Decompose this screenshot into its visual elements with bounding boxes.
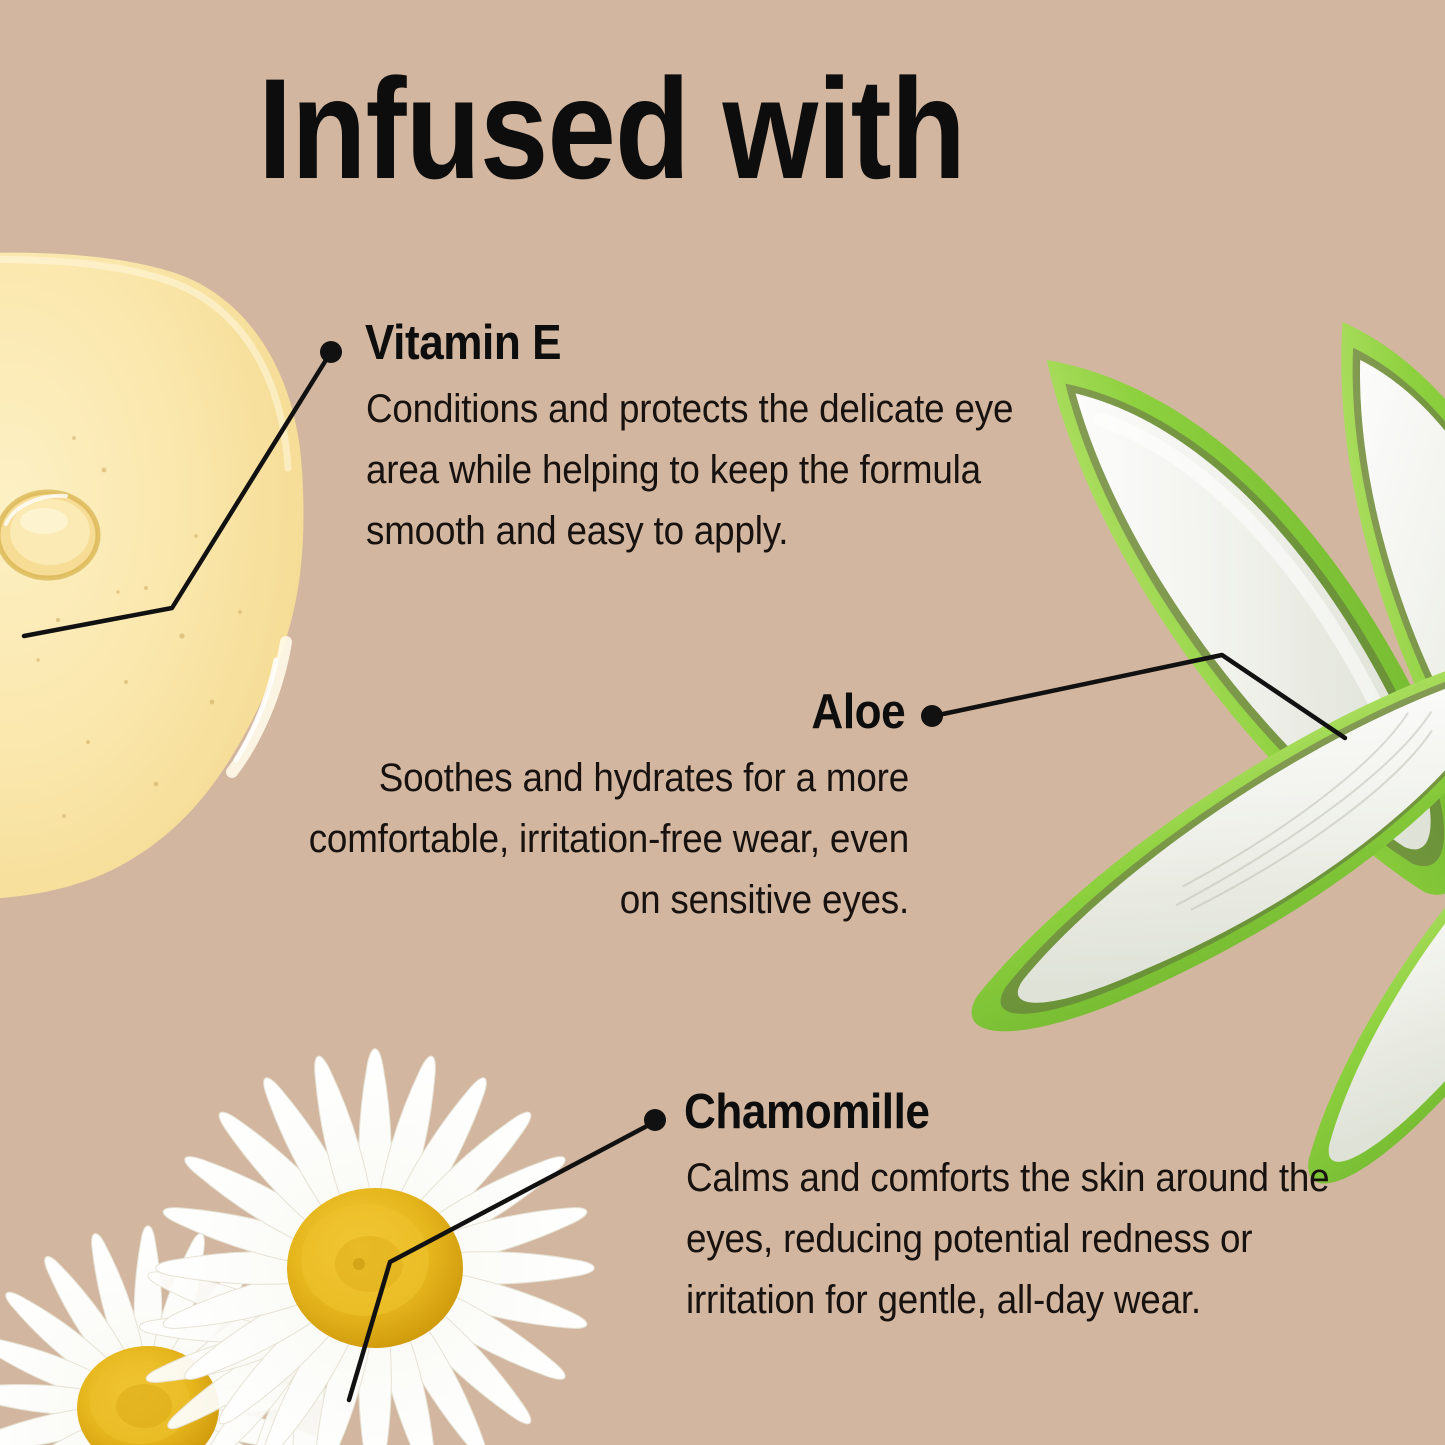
chamomile-flower-primary [156,1049,595,1445]
ingredient-title-aloe: Aloe [811,688,905,737]
oil-droplet [0,492,98,578]
ingredient-title-vitamin-e: Vitamin E [365,319,561,368]
chamomile-flower-tertiary [139,1262,331,1445]
chamomille-leader-line [349,1109,666,1400]
page-title: Infused with [258,58,965,201]
chamomile-flower-secondary [0,1226,331,1445]
ingredient-body-chamomille: Calms and comforts the skin around the e… [686,1148,1330,1330]
ingredient-infographic: Infused with Vitamin E Conditions and pr… [0,0,1445,1445]
ingredient-title-chamomille: Chamomille [684,1088,929,1137]
ingredient-body-vitamin-e: Conditions and protects the delicate eye… [366,379,1065,561]
oil-swatch-art [0,253,303,900]
vitamin-e-leader-line [24,341,342,636]
ingredient-body-aloe: Soothes and hydrates for a more comforta… [265,748,909,930]
aloe-leader-line [921,655,1345,738]
chamomile-flowers-art [0,1049,594,1445]
